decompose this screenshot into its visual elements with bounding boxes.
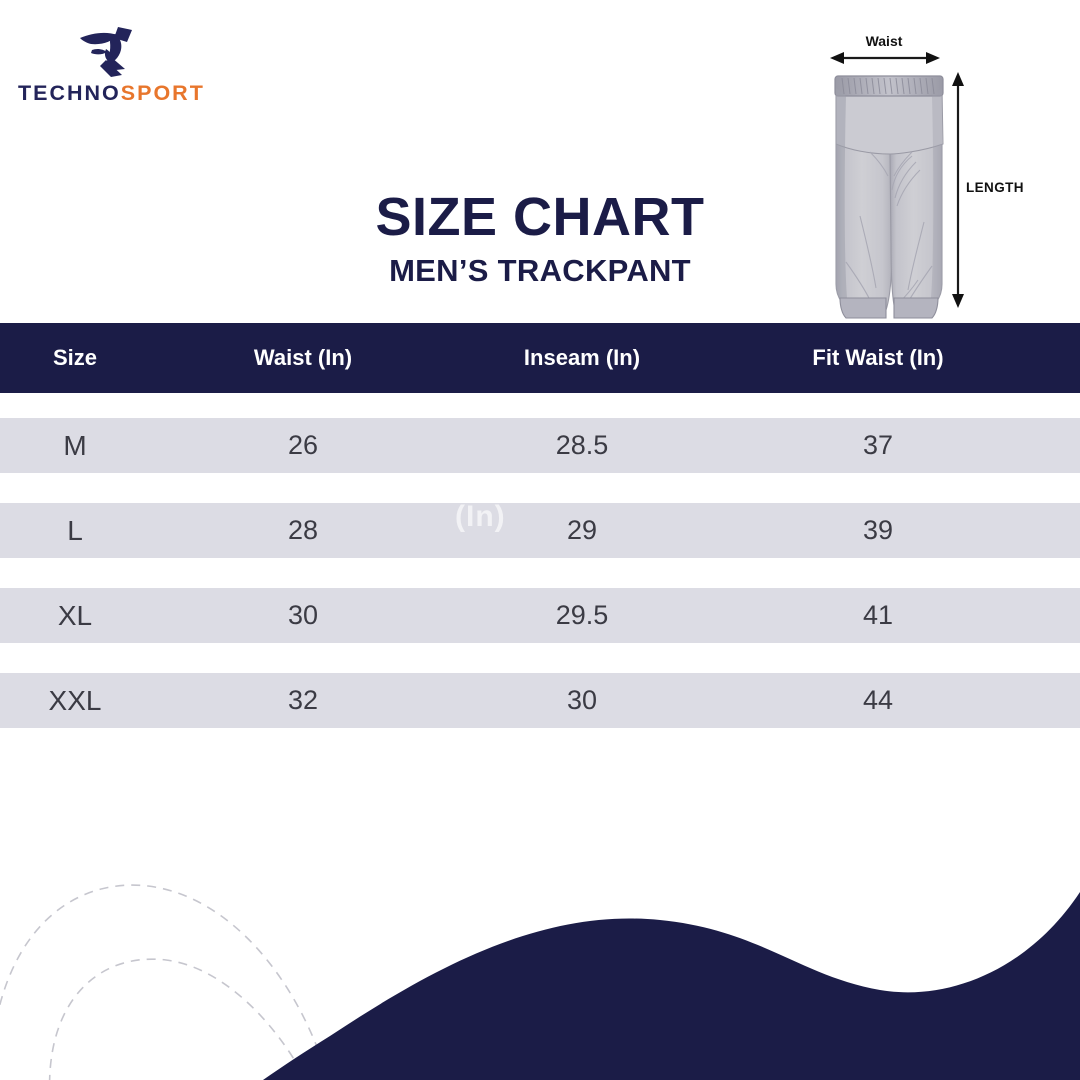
length-measure-label: LENGTH	[966, 180, 1024, 195]
table-row: L 28 29 39	[0, 503, 1080, 558]
column-header-waist: Waist (In)	[178, 323, 428, 393]
waist-measure-label: Waist	[832, 33, 936, 49]
table-row: M 26 28.5 37	[0, 418, 1080, 473]
table-body: M 26 28.5 37 L 28 29 39 XL 30 29.5 41 XX…	[0, 393, 1080, 728]
cell-fit-waist: 37	[753, 418, 1003, 473]
brand-name-sport: SPORT	[121, 81, 205, 105]
cell-size: L	[0, 503, 150, 558]
unit-watermark: (In)	[455, 500, 506, 534]
cell-waist: 32	[178, 673, 428, 728]
cell-fit-waist: 44	[753, 673, 1003, 728]
cell-size: XL	[0, 588, 150, 643]
cell-inseam: 28.5	[457, 418, 707, 473]
cell-waist: 30	[178, 588, 428, 643]
cell-size: XXL	[0, 673, 150, 728]
column-header-inseam: Inseam (In)	[457, 323, 707, 393]
horizontal-double-arrow-icon	[830, 52, 940, 64]
brand-name-techno: TECHNO	[18, 81, 121, 105]
page-title: SIZE CHART	[240, 186, 840, 248]
column-header-fit-waist: Fit Waist (In)	[753, 323, 1003, 393]
trackpant-illustration	[800, 26, 1080, 326]
cell-inseam: 29.5	[457, 588, 707, 643]
column-header-size: Size	[0, 323, 150, 393]
bottom-decoration	[0, 840, 1080, 1080]
table-header-row: Size Waist (In) Inseam (In) Fit Waist (I…	[0, 323, 1080, 393]
brand-logo: TECHNOSPORT	[18, 24, 278, 110]
brand-wordmark: TECHNOSPORT	[18, 79, 278, 107]
page-subtitle: MEN’S TRACKPANT	[240, 251, 840, 291]
title-block: SIZE CHART MEN’S TRACKPANT	[240, 186, 840, 291]
vertical-double-arrow-icon	[952, 72, 964, 308]
cell-inseam: 30	[457, 673, 707, 728]
size-table: Size Waist (In) Inseam (In) Fit Waist (I…	[0, 323, 1080, 758]
running-athlete-icon	[78, 24, 140, 80]
cell-size: M	[0, 418, 150, 473]
table-row: XXL 32 30 44	[0, 673, 1080, 728]
pant-body	[835, 76, 943, 318]
size-chart-page: TECHNOSPORT SIZE CHART MEN’S TRACKPANT	[0, 0, 1080, 1080]
cell-waist: 26	[178, 418, 428, 473]
cell-waist: 28	[178, 503, 428, 558]
cell-fit-waist: 39	[753, 503, 1003, 558]
table-row: XL 30 29.5 41	[0, 588, 1080, 643]
cell-fit-waist: 41	[753, 588, 1003, 643]
dashed-arc-icon	[0, 885, 330, 1080]
